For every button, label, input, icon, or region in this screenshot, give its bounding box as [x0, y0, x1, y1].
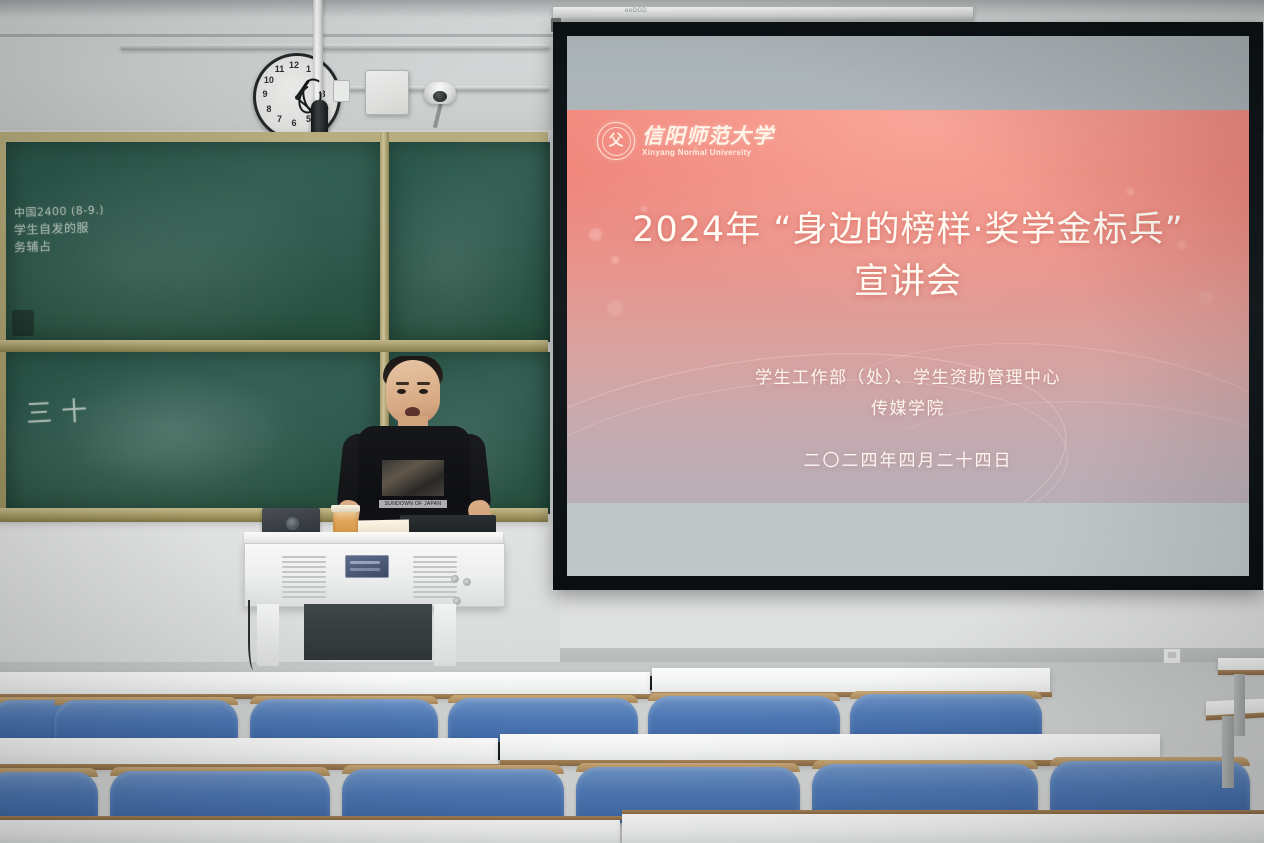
blackboard-horizontal-divider — [0, 340, 548, 352]
slide-org-line-1: 学生工作部（处）、学生资助管理中心 — [567, 362, 1249, 393]
lectern-leg-right — [434, 604, 456, 666]
lectern-vent-slat — [282, 591, 326, 593]
lectern-vent-slat — [413, 566, 457, 568]
clock-numeral-6: 6 — [288, 118, 300, 128]
presenter-eyebrow-right — [417, 382, 430, 385]
lectern-vent-slat — [282, 571, 326, 573]
side-desk-leg-2 — [1222, 716, 1234, 788]
desk-row2-left — [0, 738, 498, 766]
presenter-eyebrow-left — [396, 382, 409, 385]
lectern-knob-a[interactable] — [451, 575, 459, 583]
clock-numeral-11: 11 — [274, 64, 286, 74]
shirt-graphic-print — [382, 460, 444, 496]
lecture-hall-photo: 121234567891011 中国2400 (8-9.) 学生自发的服 务辅占… — [0, 0, 1264, 843]
lectern-vent-slat — [282, 576, 326, 578]
electrical-junction-box — [365, 70, 409, 115]
slide-title: 2024年 “身边的榜样·奖学金标兵” 宣讲会 — [567, 204, 1249, 308]
lectern-vent-slat — [413, 561, 457, 563]
screen-brand-label: eeDGD — [625, 8, 647, 14]
lectern-vent-slat — [413, 591, 457, 593]
presenter-eye-right — [419, 389, 428, 394]
blackboard-chalk-large: 三 十 — [25, 390, 89, 430]
presenter-eye-left — [397, 389, 406, 394]
lectern-vent-slat — [282, 556, 326, 558]
lectern-cabinet — [304, 604, 432, 660]
chalk-eraser-mark — [12, 310, 34, 336]
lectern-vent-slat — [413, 596, 457, 598]
lectern-vent-slat — [413, 556, 457, 558]
seal-glyph: 父 — [598, 131, 634, 150]
conduit-pipe — [120, 44, 550, 50]
blackboard-panel-top-left — [6, 142, 380, 342]
lectern-vent-slat — [413, 581, 457, 583]
wall-seam — [0, 34, 560, 37]
projection-screen-surface: 父 信阳师范大学 Xinyang Normal University 2024年… — [567, 36, 1249, 576]
clock-numeral-8: 8 — [263, 104, 275, 114]
desk-edge-row1-right — [622, 810, 1264, 814]
wall-outlet[interactable] — [333, 80, 350, 102]
desk-row3-left — [0, 672, 650, 696]
slide-org-line-2: 传媒学院 — [567, 393, 1249, 424]
wall-outlet-plate[interactable] — [1163, 648, 1181, 664]
chair-row3-3[interactable] — [250, 699, 438, 742]
screen-roller-housing[interactable] — [552, 6, 974, 21]
university-logo: 父 信阳师范大学 Xinyang Normal University — [597, 122, 774, 160]
lectern-vent-slat — [413, 586, 457, 588]
desk-row1-right — [622, 812, 1264, 843]
lectern-knob-b[interactable] — [463, 578, 471, 586]
slide-title-line-1: 2024年 “身边的榜样·奖学金标兵” — [632, 210, 1184, 250]
side-desk-leg — [1234, 674, 1245, 736]
clock-numeral-9: 9 — [259, 89, 271, 99]
clock-numeral-10: 10 — [263, 75, 275, 85]
lectern-vent-slat — [282, 581, 326, 583]
tea-cup-lid — [331, 505, 360, 512]
lectern-vent-slat — [282, 596, 326, 598]
lectern-vent-slat — [282, 566, 326, 568]
bokeh-dot — [1127, 188, 1134, 195]
university-name-en: Xinyang Normal University — [642, 149, 774, 157]
chair-row2-1[interactable] — [0, 772, 98, 822]
blackboard-chalk-line-3: 务辅占 — [14, 237, 52, 255]
clock-numeral-7: 7 — [274, 114, 286, 124]
power-cable — [248, 600, 262, 670]
lectern-vent-slat — [282, 561, 326, 563]
slide-title-line-2: 宣讲会 — [567, 256, 1249, 308]
shirt-caption-text: SUNDOWN OF JAPAN — [379, 500, 447, 508]
university-seal-icon: 父 — [597, 122, 635, 160]
lectern-control-display[interactable] — [345, 555, 389, 578]
university-name-cn: 信阳师范大学 — [642, 125, 774, 146]
chair-row2-3[interactable] — [342, 769, 564, 823]
blackboard-chalk-line-2: 学生自发的服 — [14, 219, 90, 239]
clock-numeral-12: 12 — [288, 60, 300, 70]
chair-row3-2[interactable] — [54, 700, 238, 742]
slide-organizers: 学生工作部（处）、学生资助管理中心 传媒学院 — [567, 362, 1249, 424]
desk-edge-row1-left — [0, 816, 622, 820]
chalk-smudge — [60, 370, 290, 490]
lectern-vent-slat — [282, 586, 326, 588]
lectern-vent-slat — [413, 571, 457, 573]
dome-security-camera — [424, 82, 456, 104]
desk-row1-left — [0, 818, 620, 843]
slide-date: 二〇二四年四月二十四日 — [567, 446, 1249, 471]
projected-slide: 父 信阳师范大学 Xinyang Normal University 2024年… — [567, 110, 1249, 503]
blackboard-panel-top-right — [388, 142, 550, 342]
blackboard-chalk-line-1: 中国2400 (8-9.) — [14, 201, 105, 220]
